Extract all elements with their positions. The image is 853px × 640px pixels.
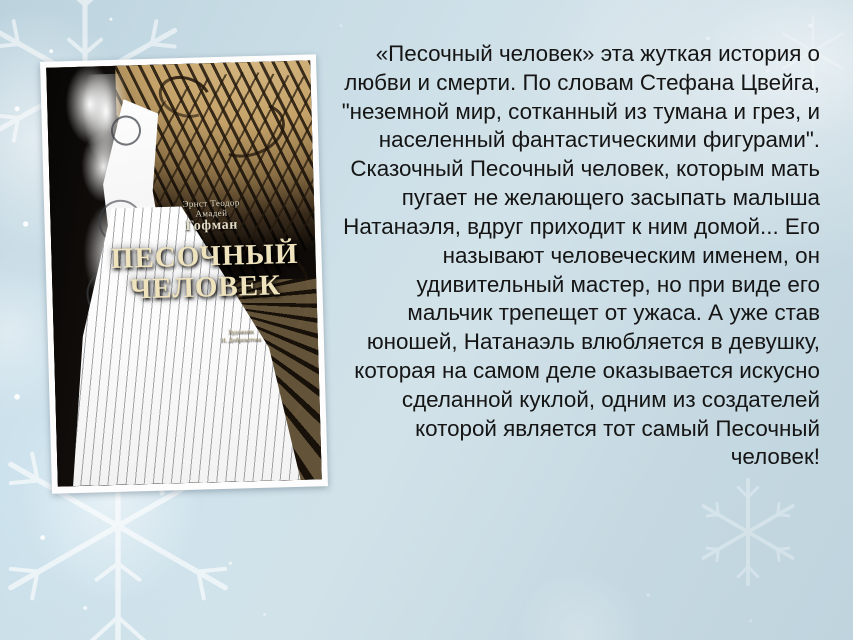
book-cover-artwork: Эрнст Теодор Амадей Гофман ПЕСОЧНЫЙ ЧЕЛО… [46,60,322,486]
cover-illustrator-credit: Художник Н. Доброхотова [180,327,302,347]
book-cover-image: Эрнст Теодор Амадей Гофман ПЕСОЧНЫЙ ЧЕЛО… [40,54,328,494]
cover-author-name: Эрнст Теодор Амадей Гофман [127,197,297,235]
description-text: «Песочный человек» эта жуткая история о … [338,40,820,472]
presentation-slide: Эрнст Теодор Амадей Гофман ПЕСОЧНЫЙ ЧЕЛО… [0,0,853,640]
snowflake-icon [686,470,810,594]
cover-title: ПЕСОЧНЫЙ ЧЕЛОВЕК [101,241,308,305]
cover-title-line-2: ЧЕЛОВЕК [102,272,309,305]
